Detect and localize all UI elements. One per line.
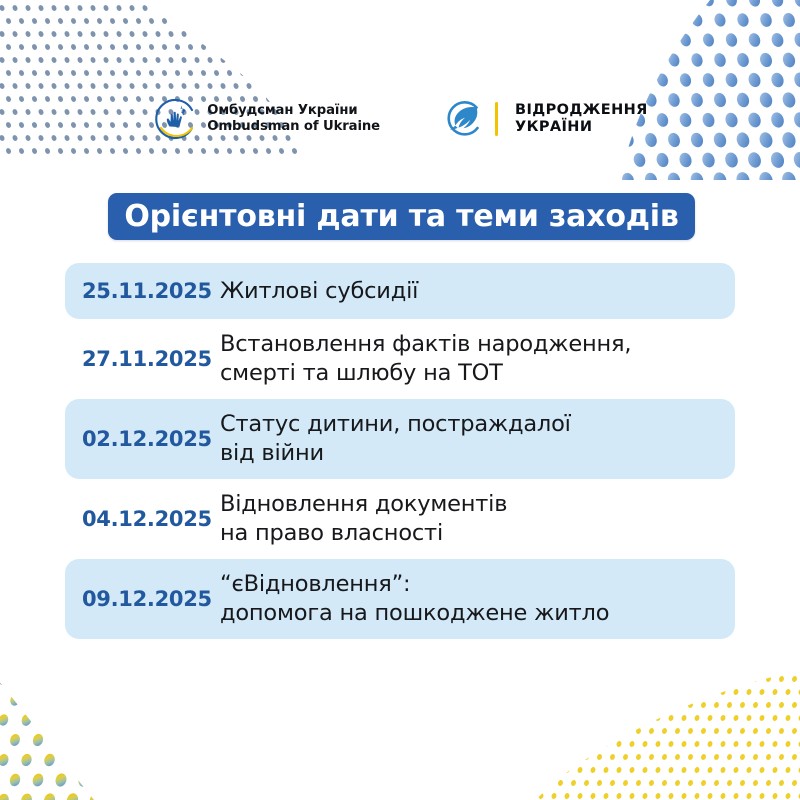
revival-logo-text: ВІДРОДЖЕННЯ УКРАЇНИ	[515, 102, 648, 136]
schedule-topic-line1: Відновлення документів	[220, 491, 507, 517]
poster-canvas: Омбудсман України Ombudsman of Ukraine В…	[0, 0, 800, 800]
schedule-topic-line2: смерті та шлюбу на ТОТ	[220, 359, 735, 388]
schedule-topic-line1: “єВідновлення”:	[220, 571, 410, 597]
schedule-row: 02.12.2025Статус дитини, постраждалоївід…	[65, 399, 735, 479]
schedule-topic: Встановлення фактів народження,смерті та…	[220, 330, 735, 387]
logo-row: Омбудсман України Ombudsman of Ukraine В…	[0, 96, 800, 142]
logo-revival: ВІДРОДЖЕННЯ УКРАЇНИ	[440, 97, 648, 141]
schedule-row: 04.12.2025Відновлення документівна право…	[65, 479, 735, 559]
schedule-row: 25.11.2025Житлові субсидії	[65, 263, 735, 319]
revival-name-line2: УКРАЇНИ	[515, 119, 648, 136]
logo-ombudsman: Омбудсман України Ombudsman of Ukraine	[152, 96, 380, 142]
schedule-date: 27.11.2025	[82, 347, 220, 371]
page-title: Орієнтовні дати та теми заходів	[124, 199, 678, 234]
revival-phoenix-bird-icon	[440, 97, 484, 141]
schedule-date: 09.12.2025	[82, 587, 220, 611]
schedule-topic-line2: на право власності	[220, 519, 735, 548]
schedule-topic-line1: Статус дитини, постраждалої	[220, 411, 571, 437]
schedule-topic-line1: Житлові субсидії	[220, 278, 418, 304]
schedule-topic: Житлові субсидії	[220, 277, 735, 306]
ombudsman-name-en: Ombudsman of Ukraine	[207, 119, 380, 135]
schedule-topic: Відновлення документівна право власності	[220, 490, 735, 547]
schedule-topic-line2: від війни	[220, 439, 735, 468]
title-banner: Орієнтовні дати та теми заходів	[108, 193, 695, 240]
schedule-list: 25.11.2025Житлові субсидії27.11.2025Вста…	[65, 263, 735, 639]
revival-name-line1: ВІДРОДЖЕННЯ	[515, 102, 648, 119]
schedule-topic-line2: допомога на пошкоджене житло	[220, 599, 735, 628]
schedule-row: 27.11.2025Встановлення фактів народження…	[65, 319, 735, 399]
schedule-topic: Статус дитини, постраждалоївід війни	[220, 410, 735, 467]
halftone-dots-top-right-icon	[500, 0, 800, 180]
dotted-swoosh-bottom-right-icon	[460, 620, 800, 800]
schedule-date: 25.11.2025	[82, 279, 220, 303]
schedule-topic: “єВідновлення”:допомога на пошкоджене жи…	[220, 570, 735, 627]
schedule-date: 04.12.2025	[82, 507, 220, 531]
ombudsman-logo-text: Омбудсман України Ombudsman of Ukraine	[207, 103, 380, 134]
schedule-row: 09.12.2025“єВідновлення”:допомога на пош…	[65, 559, 735, 639]
ombudsman-hand-trident-icon	[152, 96, 198, 142]
ombudsman-name-uk: Омбудсман України	[207, 103, 380, 119]
schedule-date: 02.12.2025	[82, 427, 220, 451]
schedule-topic-line1: Встановлення фактів народження,	[220, 331, 631, 357]
logo-divider	[495, 102, 498, 136]
